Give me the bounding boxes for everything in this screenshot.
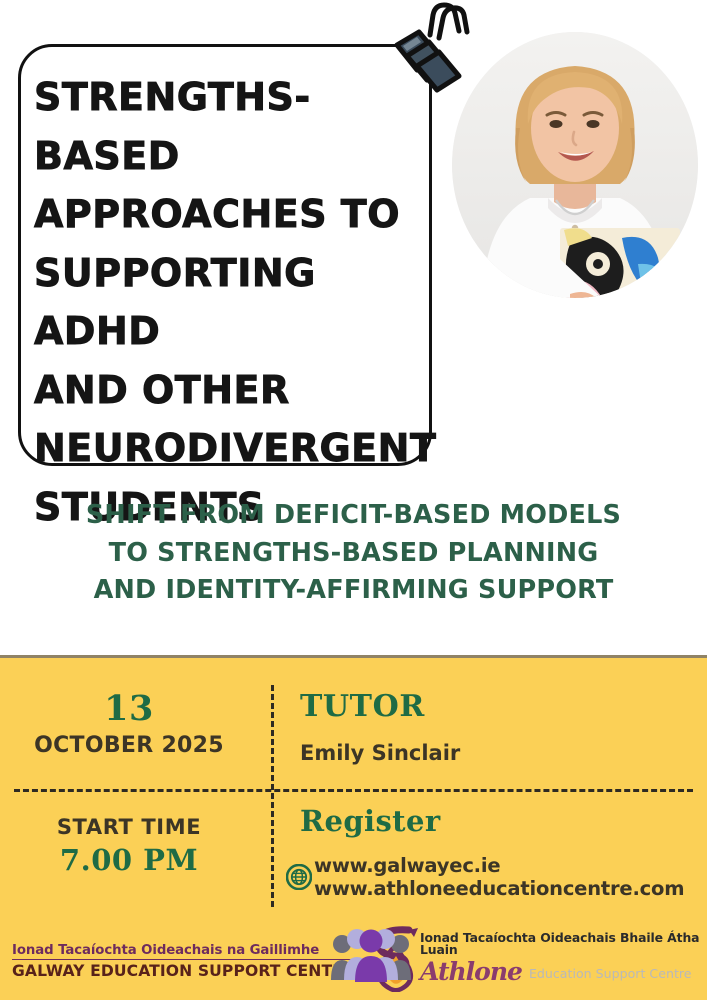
vertical-dashed-divider	[271, 685, 274, 907]
register-links-row: www.galwayec.ie www.athloneeducationcent…	[286, 854, 705, 900]
athlone-tagline: Education Support Centre	[529, 968, 692, 981]
event-day: 13	[0, 690, 258, 728]
athlone-people-group-icon	[330, 924, 412, 991]
event-date-block: 13 OCTOBER 2025	[0, 690, 258, 760]
register-links[interactable]: www.galwayec.ie www.athloneeducationcent…	[314, 854, 684, 900]
athlone-logo-text: Ionad Tacaíochta Oideachais Bhaile Átha …	[420, 932, 707, 984]
athlone-irish-name: Ionad Tacaíochta Oideachais Bhaile Átha …	[420, 932, 707, 957]
galway-logo-text: Ionad Tacaíochta Oideachais na Gaillimhe…	[12, 944, 355, 980]
footer-logos: Ionad Tacaíochta Oideachais na Gaillimhe…	[0, 918, 707, 1000]
globe-icon	[286, 864, 312, 890]
binder-clip-icon	[383, 2, 491, 102]
galway-english-name: GALWAY EDUCATION SUPPORT CENTRE	[12, 964, 355, 980]
poster-title: STRENGTHS-BASED APPROACHES TO SUPPORTING…	[34, 68, 434, 536]
event-time-block: START TIME 7.00 PM	[0, 814, 258, 878]
register-link[interactable]: www.galwayec.ie	[314, 854, 684, 877]
poster-header-section: STRENGTHS-BASED APPROACHES TO SUPPORTING…	[0, 0, 707, 658]
athlone-education-support-centre-logo: Ionad Tacaíochta Oideachais Bhaile Átha …	[330, 924, 707, 991]
athlone-wordmark-row: Athlone Education Support Centre	[420, 960, 707, 984]
athlone-wordmark: Athlone	[420, 960, 522, 984]
register-block: Register www.galwayec.ie www.athloneeduc…	[300, 806, 705, 900]
register-link[interactable]: www.athloneeducationcentre.com	[314, 877, 684, 900]
start-time-label: START TIME	[0, 814, 258, 840]
start-time-value: 7.00 PM	[0, 843, 258, 878]
galway-irish-name: Ionad Tacaíochta Oideachais na Gaillimhe	[12, 944, 355, 960]
title-line: STRENGTHS-BASED	[34, 68, 434, 185]
event-month-year: OCTOBER 2025	[0, 732, 258, 761]
subtitle-line: SHIFT FROM DEFICIT-BASED MODELS	[0, 497, 707, 535]
subtitle-line: AND IDENTITY-AFFIRMING SUPPORT	[0, 572, 707, 610]
title-line: SUPPORTING ADHD	[34, 244, 434, 361]
tutor-heading: TUTOR	[300, 690, 700, 724]
title-line: AND OTHER	[34, 361, 434, 420]
tutor-name: Emily Sinclair	[300, 740, 700, 767]
subtitle-line: TO STRENGTHS-BASED PLANNING	[0, 535, 707, 573]
title-line: NEURODIVERGENT	[34, 419, 434, 478]
tutor-block: TUTOR Emily Sinclair	[300, 690, 700, 767]
title-line: APPROACHES TO	[34, 185, 434, 244]
poster-subtitle: SHIFT FROM DEFICIT-BASED MODELS TO STREN…	[0, 497, 707, 610]
horizontal-dashed-divider	[14, 789, 693, 792]
register-heading: Register	[300, 806, 705, 838]
